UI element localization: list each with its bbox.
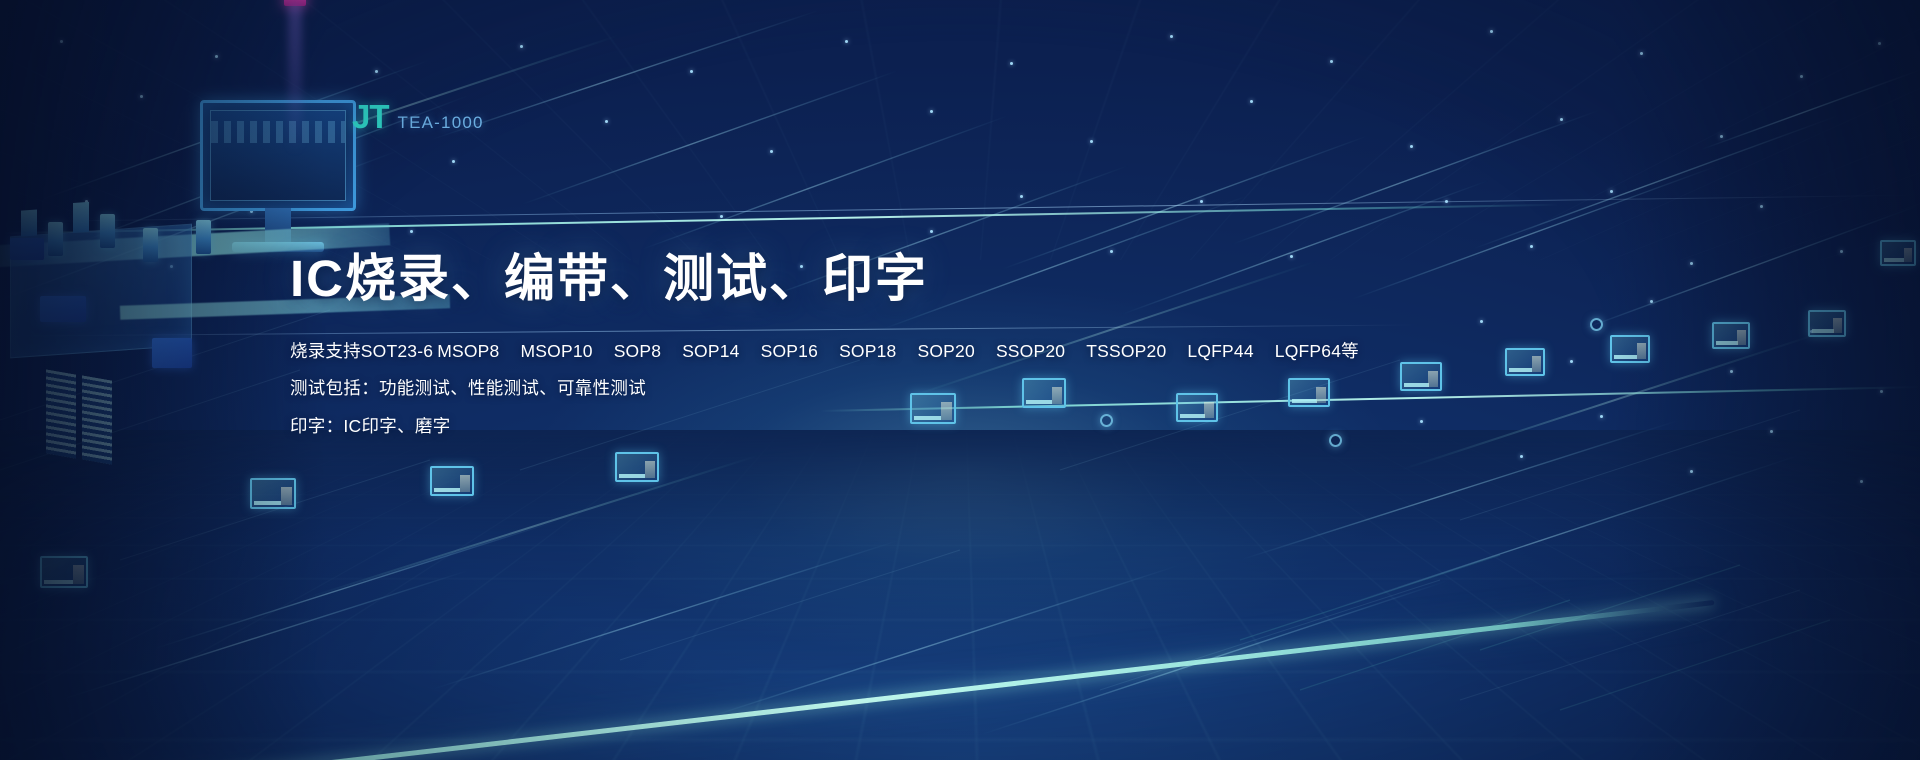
- monitor-screen: [210, 110, 346, 201]
- node-ring-icon: [1590, 318, 1603, 331]
- mini-screen-icon: [1808, 310, 1846, 337]
- lamp-light-beam: [288, 4, 302, 154]
- mini-screen-icon: [1880, 240, 1916, 266]
- handler-rig: [10, 224, 192, 359]
- hero-banner: JT TEA-1000 IC烧录、编带、测试、印字 烧录支持SOT23-6MSO…: [0, 0, 1920, 760]
- hero-copy: IC烧录、编带、测试、印字 烧录支持SOT23-6MSOP8MSOP10SOP8…: [290, 250, 1590, 455]
- pneumatic-cylinder: [196, 220, 211, 254]
- package-chip: SSOP20: [996, 341, 1065, 361]
- testing-line: 测试包括：功能测试、性能测试、可靠性测试: [290, 380, 1590, 398]
- rail-upper-soft: [0, 195, 1920, 223]
- package-chip: LQFP44: [1187, 341, 1253, 361]
- package-chip: SOP20: [918, 341, 975, 361]
- mini-screen-icon: [615, 452, 659, 482]
- mini-screen-icon: [40, 556, 88, 588]
- package-chip: LQFP64等: [1275, 341, 1359, 361]
- logo-brand-text: JT: [352, 100, 389, 133]
- magazine-tray: [82, 375, 112, 464]
- package-chip: TSSOP20: [1086, 341, 1166, 361]
- mini-screen-icon: [1712, 322, 1750, 349]
- page-title: IC烧录、编带、测试、印字: [290, 250, 1590, 309]
- burn-packages-line: 烧录支持SOT23-6MSOP8MSOP10SOP8SOP14SOP16SOP1…: [290, 343, 1590, 361]
- pneumatic-cylinder: [143, 228, 158, 262]
- mini-screen-icon: [1610, 335, 1650, 363]
- equipment-logo: JT TEA-1000: [352, 100, 484, 133]
- pneumatic-cylinder: [100, 214, 115, 248]
- ceiling-perspective-grid: [0, 0, 1920, 260]
- package-chip: SOP16: [761, 341, 818, 361]
- burn-packages-lead: 烧录支持SOT23-6: [290, 341, 433, 361]
- floor-perspective-grid: [0, 430, 1920, 760]
- logo-model-text: TEA-1000: [398, 114, 484, 131]
- ceiling-lamp-icon: [284, 0, 306, 6]
- mini-screen-icon: [430, 466, 474, 496]
- pneumatic-cylinder: [48, 222, 63, 256]
- rail-upper: [0, 204, 1560, 235]
- package-chip: MSOP8: [437, 341, 499, 361]
- package-chip: SOP18: [839, 341, 896, 361]
- control-box: [10, 238, 44, 260]
- floor-fade-overlay: [0, 430, 1920, 760]
- marking-line: 印字：IC印字、磨字: [290, 418, 1590, 436]
- monitor-stand: [265, 208, 291, 244]
- control-box: [152, 338, 192, 368]
- mini-screen-icon: [250, 478, 296, 509]
- package-chip: SOP8: [614, 341, 662, 361]
- package-chip: SOP14: [682, 341, 739, 361]
- magazine-tray: [46, 369, 76, 458]
- package-chip: MSOP10: [520, 341, 592, 361]
- rail-bottom-glow: [0, 600, 1715, 760]
- control-box: [40, 296, 86, 322]
- monitor: [200, 100, 356, 211]
